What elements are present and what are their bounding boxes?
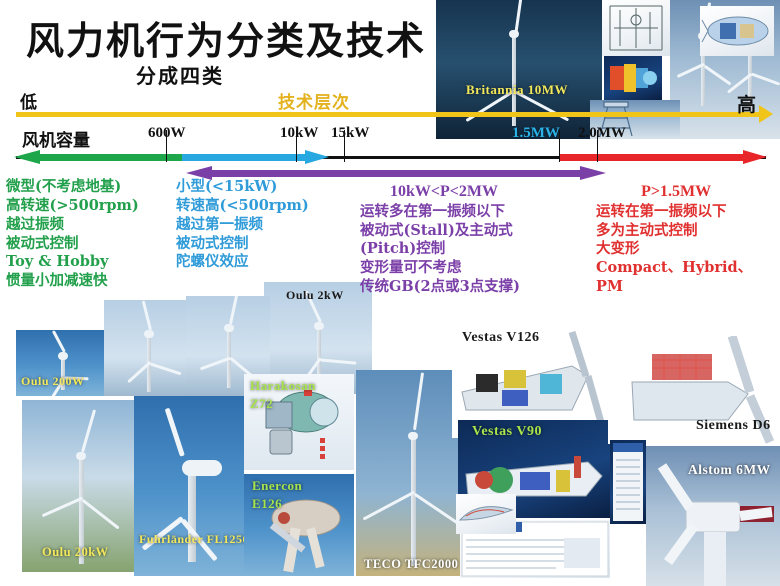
category-header: 10kW<P<2MW — [360, 182, 520, 203]
tech-axis-title: 技术层次 — [278, 88, 350, 113]
photo-enercon-e126: Enercon E126 — [244, 474, 354, 576]
tick-label-1-5mw: 1.5MW — [512, 125, 560, 142]
photo-alstom-6mw: Alstom 6MW — [646, 446, 780, 586]
photo-caption: Oulu 2kW — [286, 288, 344, 303]
tech-axis-low-label: 低 — [20, 88, 37, 113]
category-line: 运转多在第一振频以下 — [360, 203, 520, 222]
arrow-bar — [559, 154, 745, 161]
category-line: 运转在第一振频以下 — [596, 203, 752, 222]
photo-harakosan-z72: Harakosan Z72 — [244, 374, 354, 470]
photo-small-turbine-a — [104, 300, 190, 396]
photo-caption: Harakosan — [250, 378, 316, 394]
photo-caption-line2: E126 — [252, 496, 282, 512]
photo-blade-section-thumb — [456, 494, 516, 534]
category-header: P>1.5MW — [596, 182, 752, 203]
category-line: Compact、Hybrid、 — [596, 259, 752, 278]
range-arrow-small — [182, 150, 329, 164]
category-line: 被动式(Stall)及主动式 — [360, 222, 520, 241]
category-line: 小型(<15kW) — [176, 178, 309, 197]
photo-caption: Vestas V90 — [472, 424, 542, 440]
category-line: 大变形 — [596, 240, 752, 259]
category-line: 惯量小加减速快 — [6, 272, 139, 291]
arrow-bar — [182, 154, 307, 161]
category-line: 高转速(>500rpm) — [6, 197, 139, 216]
arrow-head-right — [305, 150, 329, 164]
photo-caption: Siemens D6 — [696, 418, 771, 434]
photo-caption: Oulu 200W — [21, 374, 85, 389]
photo-nacelle-cutaway-top — [700, 6, 774, 56]
category-line: PM — [596, 278, 752, 297]
arrow-bar — [38, 154, 182, 161]
category-line: 微型(不考虑地基) — [6, 178, 139, 197]
arrow-head-right — [743, 150, 767, 164]
category-block-large: P>1.5MW 运转在第一振频以下 多为主动式控制 大变形 Compact、Hy… — [596, 182, 752, 297]
thermal-analysis-icon — [604, 56, 662, 100]
category-line: 被动式控制 — [176, 235, 309, 254]
category-line: 越过振频 — [6, 216, 139, 235]
photo-britannia: Britannia 10MW — [436, 0, 602, 139]
photo-caption: Britannia 10MW — [466, 82, 568, 98]
photo-caption-line2: Z72 — [250, 396, 273, 412]
category-block-small: 小型(<15kW) 转速高(<500rpm) 越过第一振频 被动式控制 陀螺仪效… — [176, 178, 309, 272]
nacelle-cutaway-icon — [700, 6, 774, 56]
range-arrow-large — [559, 150, 767, 164]
arrow-head-right — [580, 166, 606, 180]
blade-section-icon — [456, 494, 516, 534]
capacity-axis-label: 风机容量 — [22, 126, 90, 151]
tech-axis-high-label: 高 — [737, 90, 756, 117]
category-block-medium: 10kW<P<2MW 运转多在第一振频以下 被动式(Stall)及主动式 (Pi… — [360, 182, 520, 297]
category-line: 传统GB(2点或3点支撑) — [360, 278, 520, 297]
range-arrow-micro — [14, 150, 182, 164]
category-line: 变形量可不考虑 — [360, 259, 520, 278]
photo-caption: Oulu 20kW — [42, 545, 109, 560]
photo-siemens-d6: Siemens D6 — [608, 336, 780, 444]
page-title: 风力机行为分类及技术 — [26, 10, 426, 65]
category-line: 被动式控制 — [6, 235, 139, 254]
page-subtitle: 分成四类 — [136, 60, 224, 89]
category-line: 转速高(<500rpm) — [176, 197, 309, 216]
photo-caption: TECO TFC2000 — [364, 557, 458, 572]
spec-sheet-icon — [610, 440, 646, 524]
tick-label-2-0mw: 2.0MW — [578, 125, 626, 142]
photo-diagram-schematic — [602, 0, 670, 56]
category-line: Toy & Hobby — [6, 253, 139, 272]
photo-oulu-200w: Oulu 200W — [16, 330, 110, 396]
category-line: 越过第一振频 — [176, 216, 309, 235]
photo-oulu-20kw: Oulu 20kW — [22, 400, 136, 572]
photo-spec-sheet-thumb — [610, 440, 646, 524]
photo-caption: Fuhrländer FL1250 — [139, 532, 244, 547]
slide-canvas: Britannia 10MW — [0, 0, 780, 586]
tick-label-10kw: 10kW — [280, 125, 318, 142]
category-line: (Pitch)控制 — [360, 240, 520, 259]
arrow-bar — [210, 170, 582, 177]
photo-caption: Enercon — [252, 478, 302, 494]
photo-gearbox-thermal — [604, 56, 662, 100]
category-line: 多为主动式控制 — [596, 222, 752, 241]
arrow-head-left — [14, 150, 40, 164]
category-line: 陀螺仪效应 — [176, 253, 309, 272]
photo-fuhrlander-fl1250: Fuhrländer FL1250 — [134, 396, 244, 576]
schematic-icon — [602, 0, 670, 56]
tick-label-15kw: 15kW — [331, 125, 369, 142]
tech-level-arrow — [16, 112, 760, 117]
category-block-micro: 微型(不考虑地基) 高转速(>500rpm) 越过振频 被动式控制 Toy & … — [6, 178, 139, 291]
photo-caption: Vestas V126 — [462, 330, 539, 346]
photo-teco-tfc2000: TECO TFC2000 — [356, 370, 460, 576]
tick-label-600w: 600W — [148, 125, 186, 142]
photo-caption: Alstom 6MW — [688, 462, 771, 478]
